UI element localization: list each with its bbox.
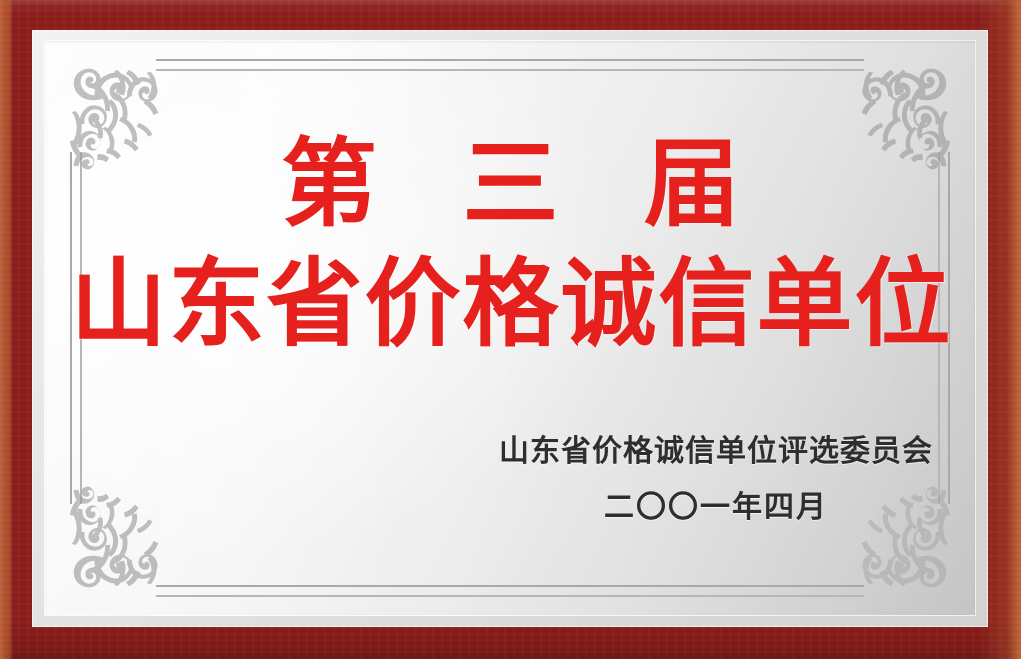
- corner-ornament-bottom-left: [62, 482, 180, 600]
- corner-ornament-top-right: [840, 56, 958, 174]
- plate-sheen: [44, 40, 976, 616]
- award-plaque: 第 三 届 山东省价格诚信单位 山东省价格诚信单位评选委员会 二〇〇一年四月: [0, 0, 1021, 659]
- rule-bottom-outer: [156, 585, 864, 587]
- rule-top-inner: [156, 69, 864, 71]
- rule-bottom-inner: [156, 595, 864, 597]
- rule-right-inner: [938, 152, 940, 504]
- rule-left-outer: [70, 152, 72, 504]
- corner-ornament-top-left: [62, 56, 180, 174]
- rule-left-inner: [80, 152, 82, 504]
- rule-right-outer: [948, 152, 950, 504]
- corner-ornament-bottom-right: [840, 482, 958, 600]
- metal-plate: [44, 40, 976, 616]
- rule-top-outer: [156, 59, 864, 61]
